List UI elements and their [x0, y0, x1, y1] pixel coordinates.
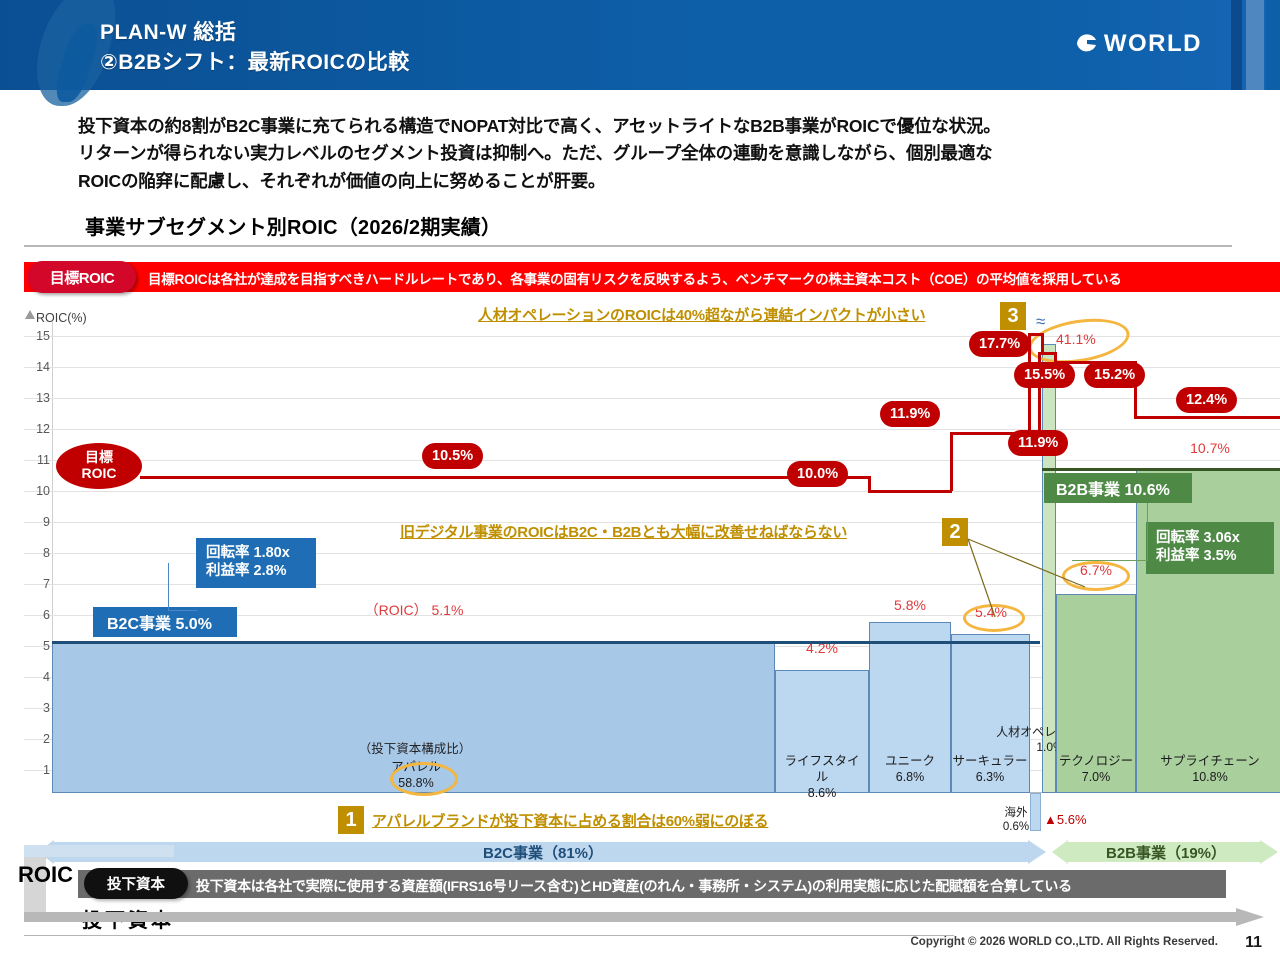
ytick-15: 15: [30, 329, 50, 343]
lead-paragraph: 投下資本の約8割がB2C事業に充てられる構造でNOPAT対比で高く、アセットライ…: [78, 113, 1268, 195]
capital-axis-arrow: [24, 908, 1264, 926]
ytick-8: 8: [30, 546, 50, 560]
ytick-7: 7: [30, 577, 50, 591]
callout-text-2[interactable]: 旧デジタル事業のROICはB2C・B2Bとも大幅に改善せねばならない: [400, 521, 847, 542]
target-line-seg-unique: [868, 490, 952, 493]
ytick-5: 5: [30, 639, 50, 653]
bar-label-overseas: 海外 0.6%: [990, 806, 1042, 835]
target-pill-10-0: 10.0%: [787, 461, 848, 487]
copyright-text: Copyright © 2026 WORLD CO.,LTD. All Righ…: [910, 936, 1218, 948]
target-pill-group-11-9: 11.9%: [1008, 430, 1068, 456]
footer-note-pill-label: 投下資本: [107, 873, 165, 894]
footer-note-text: 投下資本は各社で実際に使用する資産額(IFRS16号リース含む)とHD資産(のれ…: [196, 876, 1072, 896]
target-line-step-2: [950, 432, 953, 491]
b2c-average-line: [775, 641, 1040, 644]
ytick-6: 6: [30, 608, 50, 622]
header-right-bar-edge: [1266, 0, 1280, 90]
target-pill-10-5: 10.5%: [422, 443, 483, 469]
gridline-12: [24, 429, 1280, 430]
footer-note-pill: 投下資本: [84, 868, 188, 899]
target-pill-12-4: 12.4%: [1176, 387, 1237, 413]
roic-value-overseas: ▲5.6%: [1044, 812, 1104, 827]
b2b-average-line: [1042, 468, 1280, 471]
roic-axis-label: ROIC: [18, 862, 73, 888]
b2c-scope-label: B2C事業（81%）: [483, 844, 603, 862]
world-logo: WORLD: [1074, 30, 1202, 58]
ytick-11: 11: [30, 453, 50, 467]
target-line-step-4: [1041, 333, 1044, 353]
bar-label-circular: サーキュラー 6.3%: [950, 754, 1030, 786]
bar-label-supplychain: サプライチェーン 10.8%: [1140, 754, 1280, 786]
slide: PLAN-W 総括 ②B2Bシフト：最新ROICの比較 WORLD 投下資本の約…: [0, 0, 1280, 960]
bar-label-technology: テクノロジー 7.0%: [1054, 754, 1138, 786]
target-roic-pill: 目標ROIC: [28, 261, 136, 293]
ytick-2: 2: [30, 732, 50, 746]
ytick-14: 14: [30, 360, 50, 374]
axis-break-icon: ≈: [1036, 312, 1045, 332]
b2c-summary-box: B2C事業 5.0%: [93, 607, 237, 637]
page-title: PLAN-W 総括 ②B2Bシフト：最新ROICの比較: [100, 18, 410, 78]
capital-composition-note: （投下資本構成比）: [330, 742, 500, 758]
callout-2-leader-lines: [960, 525, 1100, 625]
y-axis-arrow-icon: [24, 310, 34, 322]
roic-note-apparel: （ROIC） 5.1%: [334, 600, 494, 620]
b2b-scope-arrow: B2B事業（19%）: [1052, 838, 1280, 866]
ytick-9: 9: [30, 515, 50, 529]
target-roic-pill-label: 目標ROIC: [50, 267, 115, 288]
bar-apparel-top-edge: [52, 641, 775, 644]
target-pill-17-7: 17.7%: [969, 331, 1030, 357]
b2b-scope-label: B2B事業（19%）: [1106, 844, 1226, 862]
axis-corner-blue-bar: [24, 845, 174, 857]
target-roic-badge: 目標 ROIC: [56, 443, 142, 489]
callout-number-1[interactable]: 1: [338, 806, 364, 834]
bar-label-unique: ユニーク 6.8%: [872, 754, 948, 786]
roic-value-supplychain: 10.7%: [1140, 440, 1280, 456]
gridline-11: [24, 460, 1280, 461]
target-roic-badge-line2: ROIC: [82, 466, 117, 482]
b2c-metrics-leader-line: [168, 563, 197, 611]
b2c-metrics-box: 回転率 1.80x 利益率 2.8%: [196, 538, 316, 588]
target-roic-banner-text: 目標ROICは各社が達成を目指すべきハードルレートであり、各事業の固有リスクを反…: [148, 268, 1268, 288]
b2c-scope-arrow: B2C事業（81%）: [38, 838, 1048, 866]
target-pill-11-9: 11.9%: [880, 401, 940, 427]
y-axis-title: ROIC(%): [36, 311, 87, 325]
callout-number-3[interactable]: 3: [1000, 302, 1026, 330]
target-roic-badge-line1: 目標: [85, 450, 113, 466]
ytick-3: 3: [30, 701, 50, 715]
section-rule: [24, 245, 1232, 247]
world-logo-text: WORLD: [1104, 30, 1202, 58]
roic-value-unique: 5.8%: [872, 597, 948, 613]
bar-supplychain[interactable]: [1136, 470, 1280, 793]
header-right-bar-light: [1246, 0, 1264, 90]
target-pill-15-2: 15.2%: [1084, 362, 1145, 388]
b2b-summary-box: B2B事業 10.6%: [1044, 473, 1192, 503]
section-heading: 事業サブセグメント別ROIC（2026/2期実績）: [85, 211, 501, 240]
callout-text-1[interactable]: アパレルブランドが投下資本に占める割合は60%弱にのぼる: [372, 810, 768, 831]
ytick-1: 1: [30, 763, 50, 777]
ytick-10: 10: [30, 484, 50, 498]
callout-text-3[interactable]: 人材オペレーションのROICは40%超ながら連結インパクトが小さい: [478, 304, 925, 325]
bar-label-lifestyle: ライフスタイル 8.6%: [780, 754, 864, 801]
target-line-seg-apparel: [140, 476, 775, 479]
header-right-bar-dark: [1231, 0, 1242, 90]
ytick-12: 12: [30, 422, 50, 436]
ytick-4: 4: [30, 670, 50, 684]
gridline-13: [24, 398, 1280, 399]
b2b-metrics-box: 回転率 3.06x 利益率 3.5%: [1146, 522, 1274, 574]
highlight-ellipse-apparel: [390, 762, 458, 796]
slide-header: PLAN-W 総括 ②B2Bシフト：最新ROICの比較 WORLD: [0, 0, 1280, 90]
page-number: 11: [1245, 934, 1262, 952]
target-line-seg-supplychain: [1134, 416, 1280, 419]
ytick-13: 13: [30, 391, 50, 405]
target-pill-15-5: 15.5%: [1014, 362, 1075, 388]
world-logo-icon: [1074, 31, 1100, 57]
footer-rule: [24, 935, 954, 936]
